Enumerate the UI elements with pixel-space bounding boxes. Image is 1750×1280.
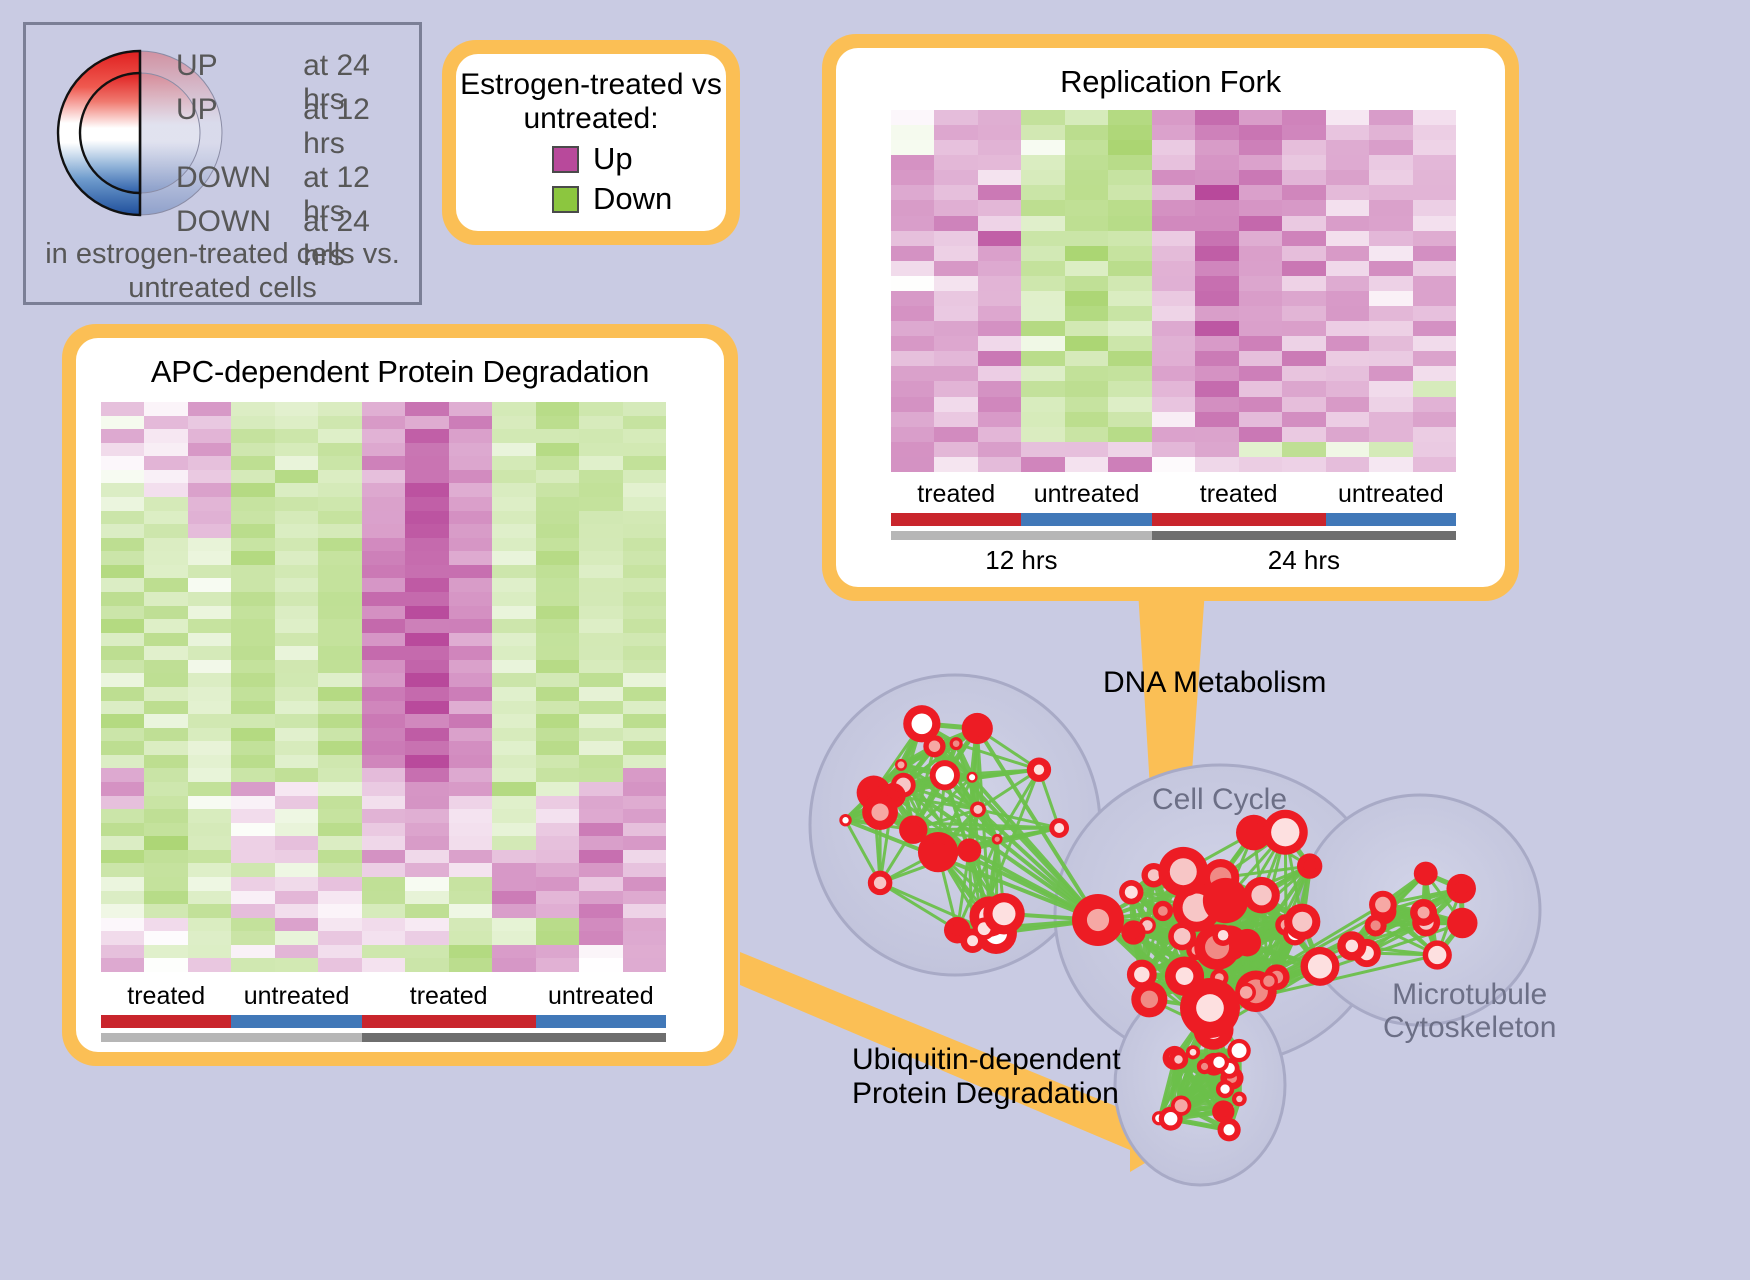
- heatmap-cell: [623, 416, 666, 430]
- heatmap-cell: [1282, 110, 1325, 125]
- heatmap-cell: [1152, 276, 1195, 291]
- network-node[interactable]: [1153, 901, 1173, 921]
- heatmap-cell: [1282, 336, 1325, 351]
- heatmap-cell: [579, 660, 622, 674]
- heatmap-cell: [275, 673, 318, 687]
- node-inner-core: [967, 935, 978, 946]
- heatmap-cell: [318, 443, 361, 457]
- heatmap-cell: [405, 823, 448, 837]
- heatmap-cell: [318, 416, 361, 430]
- node-inner-core: [1418, 906, 1430, 918]
- node-inner-core: [1196, 994, 1224, 1022]
- heatmap-cell: [405, 796, 448, 810]
- heatmap-cell: [1108, 397, 1151, 412]
- heatmap-cell: [405, 443, 448, 457]
- heatmap-cell: [978, 155, 1021, 170]
- heatmap-cell: [101, 945, 144, 959]
- heatmap-cell: [1108, 110, 1151, 125]
- heatmap-cell: [1326, 336, 1369, 351]
- network-node[interactable]: [1423, 940, 1452, 969]
- heatmap-cell: [449, 456, 492, 470]
- heatmap-cell: [318, 429, 361, 443]
- network-node[interactable]: [970, 801, 986, 817]
- network-node[interactable]: [1232, 1092, 1247, 1107]
- heatmap-cell: [623, 646, 666, 660]
- network-node[interactable]: [1186, 1045, 1200, 1059]
- network-node[interactable]: [1203, 878, 1248, 923]
- heatmap-cell: [101, 863, 144, 877]
- heatmap-cell: [1326, 427, 1369, 442]
- heatmap-cell: [405, 687, 448, 701]
- network-node[interactable]: [1297, 853, 1322, 878]
- heatmap-cell: [891, 125, 934, 140]
- heatmap-cell: [579, 687, 622, 701]
- network-node[interactable]: [1263, 810, 1308, 855]
- heatmap-cell: [1369, 412, 1412, 427]
- heatmap-cell: [1239, 412, 1282, 427]
- node-inner-core: [1170, 858, 1197, 885]
- heatmap-cell: [623, 470, 666, 484]
- heatmap-cell: [1369, 427, 1412, 442]
- network-node[interactable]: [1027, 758, 1051, 782]
- network-node[interactable]: [930, 760, 960, 790]
- heatmap-cell: [1369, 366, 1412, 381]
- heatmap-cell: [1152, 381, 1195, 396]
- heatmap-cell: [275, 809, 318, 823]
- heatmap-cell: [934, 200, 977, 215]
- network-node[interactable]: [895, 759, 907, 771]
- network-node[interactable]: [1446, 874, 1475, 903]
- node-inner-core: [929, 740, 940, 751]
- heatmap-cell: [492, 768, 535, 782]
- heatmap-cell: [188, 456, 231, 470]
- heatmap-cell: [536, 904, 579, 918]
- heatmap-cell: [144, 741, 187, 755]
- heatmap-cell: [275, 524, 318, 538]
- heatmap-cell: [405, 606, 448, 620]
- heatmap-cell: [318, 633, 361, 647]
- heatmap-cell: [231, 646, 274, 660]
- heatmap-cell: [1065, 336, 1108, 351]
- heatmap-cell: [362, 619, 405, 633]
- heatmap-cell: [1239, 397, 1282, 412]
- heatmap-cell: [275, 863, 318, 877]
- node-inner-core: [871, 804, 888, 821]
- heatmap-cell: [318, 958, 361, 972]
- node-inner-core: [1232, 1043, 1247, 1058]
- heatmap-cell: [1021, 261, 1064, 276]
- heatmap-cell: [1108, 276, 1151, 291]
- network-node[interactable]: [1369, 891, 1397, 919]
- heatmap-cell: [1152, 336, 1195, 351]
- heatmap-cell: [1021, 381, 1064, 396]
- heatmap-cell: [1326, 381, 1369, 396]
- node-inner-core: [1218, 930, 1229, 941]
- network-node[interactable]: [1365, 914, 1387, 936]
- node-color-legend: Estrogen-treated vs untreated: Up Down: [442, 40, 740, 245]
- heatmap-cell: [1282, 291, 1325, 306]
- heatmap-cell: [1152, 427, 1195, 442]
- heatmap-cell: [318, 687, 361, 701]
- heatmap-cell: [978, 442, 1021, 457]
- heatmap-cell: [188, 524, 231, 538]
- heatmap-cell: [623, 497, 666, 511]
- heatmap-cell: [1021, 457, 1064, 472]
- node-inner-core: [952, 924, 963, 935]
- heatmap-cell: [1195, 412, 1238, 427]
- pathway-network[interactable]: [780, 620, 1600, 1280]
- heatmap-cell: [579, 524, 622, 538]
- heatmap-cell: [536, 918, 579, 932]
- network-node[interactable]: [1049, 818, 1069, 838]
- heatmap-cell: [536, 633, 579, 647]
- heatmap-cell: [1152, 216, 1195, 231]
- heatmap-cell: [318, 578, 361, 592]
- heatmap-cell: [405, 782, 448, 796]
- heatmap-cell: [1065, 246, 1108, 261]
- heatmap-cell: [144, 728, 187, 742]
- heatmap-cell: [318, 836, 361, 850]
- heatmap-cell: [1195, 442, 1238, 457]
- network-node[interactable]: [1284, 904, 1320, 940]
- heatmap-cell: [188, 945, 231, 959]
- heatmap-cell: [1282, 125, 1325, 140]
- network-node[interactable]: [1212, 925, 1233, 946]
- heatmap-cell: [1108, 246, 1151, 261]
- heatmap-cell: [362, 511, 405, 525]
- heatmap-cell: [144, 402, 187, 416]
- heatmap-cell: [978, 381, 1021, 396]
- heatmap-cell: [623, 755, 666, 769]
- heatmap-cell: [449, 524, 492, 538]
- heatmap-cell: [144, 714, 187, 728]
- heatmap-cell: [405, 470, 448, 484]
- heatmap-cell: [144, 551, 187, 565]
- heatmap-cell: [579, 918, 622, 932]
- heatmap-cell: [101, 646, 144, 660]
- heatmap-cell: [275, 443, 318, 457]
- heatmap-cell: [231, 483, 274, 497]
- heatmap-cell: [492, 646, 535, 660]
- heatmap-cell: [1369, 110, 1412, 125]
- apc-panel: APC-dependent Protein Degradation treate…: [62, 324, 738, 1066]
- heatmap-cell: [405, 578, 448, 592]
- heatmap-cell: [362, 660, 405, 674]
- heatmap-cell: [1369, 381, 1412, 396]
- network-node[interactable]: [1300, 947, 1339, 986]
- network-node[interactable]: [1171, 1095, 1191, 1115]
- heatmap-cell: [318, 931, 361, 945]
- heatmap-cell: [188, 443, 231, 457]
- heatmap-cell: [405, 429, 448, 443]
- heatmap-cell: [231, 836, 274, 850]
- heatmap-cell: [1021, 185, 1064, 200]
- heatmap-cell: [623, 863, 666, 877]
- node-inner-core: [1190, 1049, 1197, 1056]
- network-node[interactable]: [1072, 894, 1124, 946]
- network-node[interactable]: [950, 737, 963, 750]
- heatmap-cell: [891, 261, 934, 276]
- heatmap-cell: [1152, 291, 1195, 306]
- heatmap-cell: [579, 809, 622, 823]
- heatmap-cell: [362, 429, 405, 443]
- heatmap-cell: [362, 646, 405, 660]
- heatmap-cell: [492, 470, 535, 484]
- heatmap-cell: [1413, 321, 1456, 336]
- heatmap-cell: [934, 321, 977, 336]
- heatmap-cell: [978, 185, 1021, 200]
- heatmap-cell: [405, 511, 448, 525]
- cluster-label-ubiquitin-protein-degradation: Ubiquitin-dependent Protein Degradation: [852, 1043, 1121, 1111]
- heatmap-cell: [405, 904, 448, 918]
- heatmap-cell: [318, 863, 361, 877]
- heatmap-cell: [275, 497, 318, 511]
- heatmap-cell: [362, 578, 405, 592]
- heatmap-cell: [362, 606, 405, 620]
- network-node[interactable]: [1212, 1100, 1234, 1122]
- heatmap-cell: [1239, 216, 1282, 231]
- heatmap-cell: [101, 592, 144, 606]
- node-inner-core: [969, 720, 985, 736]
- network-node[interactable]: [1410, 899, 1437, 926]
- heatmap-cell: [188, 429, 231, 443]
- heatmap-cell: [536, 945, 579, 959]
- heatmap-cell: [1065, 155, 1108, 170]
- heatmap-cell: [1326, 276, 1369, 291]
- heatmap-cell: [623, 592, 666, 606]
- network-node[interactable]: [957, 838, 981, 862]
- heatmap-cell: [1108, 170, 1151, 185]
- network-node[interactable]: [868, 871, 893, 896]
- heatmap-cell: [1108, 155, 1151, 170]
- heatmap-cell: [101, 456, 144, 470]
- heatmap-cell: [231, 470, 274, 484]
- heatmap-cell: [978, 366, 1021, 381]
- heatmap-cell: [492, 755, 535, 769]
- heatmap-cell: [1195, 170, 1238, 185]
- heatmap-cell: [536, 809, 579, 823]
- heatmap-cell: [318, 918, 361, 932]
- network-node[interactable]: [1447, 908, 1477, 938]
- heatmap-cell: [1195, 321, 1238, 336]
- heatmap-cell: [275, 836, 318, 850]
- network-node[interactable]: [1209, 1052, 1229, 1072]
- heatmap-cell: [449, 809, 492, 823]
- cluster-label-cell-cycle: Cell Cycle: [1152, 783, 1287, 816]
- heatmap-cell: [579, 511, 622, 525]
- column-group-bar: [101, 1015, 231, 1028]
- heatmap-cell: [891, 351, 934, 366]
- heatmap-cell: [623, 511, 666, 525]
- heatmap-cell: [362, 728, 405, 742]
- node-inner-core: [1148, 869, 1160, 881]
- network-node[interactable]: [983, 893, 1024, 934]
- heatmap-cell: [1065, 110, 1108, 125]
- heatmap-cell: [275, 728, 318, 742]
- heatmap-cell: [362, 931, 405, 945]
- network-node[interactable]: [1243, 877, 1280, 914]
- heatmap-cell: [1239, 140, 1282, 155]
- heatmap-cell: [362, 470, 405, 484]
- heatmap-cell: [579, 714, 622, 728]
- network-node[interactable]: [862, 794, 898, 830]
- heatmap-cell: [891, 457, 934, 472]
- heatmap-cell: [1021, 155, 1064, 170]
- panel-title: APC-dependent Protein Degradation: [76, 354, 724, 390]
- heatmap-cell: [362, 945, 405, 959]
- heatmap-cell: [231, 768, 274, 782]
- heatmap-cell: [1239, 261, 1282, 276]
- heatmap-cell: [1239, 366, 1282, 381]
- heatmap-cell: [449, 958, 492, 972]
- network-node[interactable]: [992, 834, 1003, 845]
- network-node[interactable]: [1169, 1050, 1188, 1069]
- heatmap-cell: [144, 483, 187, 497]
- heatmap-cell: [275, 796, 318, 810]
- heatmap-cell: [362, 850, 405, 864]
- heatmap-cell: [449, 850, 492, 864]
- heatmap-cell: [1413, 336, 1456, 351]
- heatmap-cell: [536, 402, 579, 416]
- heatmap-cell: [623, 931, 666, 945]
- heatmap-cell: [934, 216, 977, 231]
- heatmap-cell: [1195, 276, 1238, 291]
- heatmap-cell: [449, 945, 492, 959]
- heatmap-cell: [492, 701, 535, 715]
- network-node[interactable]: [1119, 880, 1143, 904]
- heatmap-cell: [231, 741, 274, 755]
- heatmap-cell: [188, 416, 231, 430]
- heatmap-cell: [934, 366, 977, 381]
- heatmap-cell: [275, 538, 318, 552]
- heatmap-cell: [318, 402, 361, 416]
- network-node[interactable]: [1414, 862, 1438, 886]
- heatmap-cell: [231, 565, 274, 579]
- heatmap-cell: [275, 606, 318, 620]
- heatmap-cell: [536, 483, 579, 497]
- heatmap-cell: [934, 231, 977, 246]
- network-node[interactable]: [1131, 981, 1167, 1017]
- figure-root: UP at 24 hrs UP at 12 hrs DOWN at 12 hrs…: [0, 0, 1750, 1279]
- heatmap-cell: [492, 416, 535, 430]
- heatmap-cell: [1152, 200, 1195, 215]
- heatmap-cell: [891, 276, 934, 291]
- network-node[interactable]: [1216, 1080, 1234, 1098]
- column-group-label: untreated: [1326, 480, 1456, 509]
- heatmap-cell: [934, 381, 977, 396]
- legend-time: at 12 hrs: [303, 93, 419, 161]
- heatmap-cell: [362, 524, 405, 538]
- heatmap-cell: [579, 741, 622, 755]
- heatmap-cell: [623, 551, 666, 565]
- heatmap-cell: [231, 443, 274, 457]
- heatmap-cell: [144, 768, 187, 782]
- heatmap-cell: [492, 836, 535, 850]
- heatmap-cell: [934, 442, 977, 457]
- heatmap-cell: [1108, 457, 1151, 472]
- heatmap-cell: [1282, 200, 1325, 215]
- network-node[interactable]: [962, 713, 993, 744]
- heatmap-cell: [934, 457, 977, 472]
- heatmap-cell: [1152, 321, 1195, 336]
- network-node[interactable]: [1260, 972, 1278, 990]
- heatmap-cell: [144, 606, 187, 620]
- network-node[interactable]: [1121, 920, 1145, 944]
- heatmap-cell: [231, 687, 274, 701]
- heatmap-cell: [318, 755, 361, 769]
- heatmap-cell: [978, 110, 1021, 125]
- network-node[interactable]: [1180, 978, 1240, 1038]
- heatmap-cell: [1326, 321, 1369, 336]
- heatmap-cell: [1021, 246, 1064, 261]
- heatmap-cell: [231, 551, 274, 565]
- network-node[interactable]: [923, 735, 945, 757]
- heatmap-cell: [1108, 291, 1151, 306]
- heatmap-cell: [1413, 216, 1456, 231]
- node-inner-core: [906, 823, 920, 837]
- network-node[interactable]: [1158, 847, 1208, 897]
- heatmap-cell: [318, 701, 361, 715]
- heatmap-cell: [579, 755, 622, 769]
- heatmap-cell: [275, 416, 318, 430]
- network-node[interactable]: [967, 772, 978, 783]
- heatmap-cell: [579, 497, 622, 511]
- heatmap-cell: [362, 402, 405, 416]
- heatmap-cell: [1413, 170, 1456, 185]
- heatmap-cell: [536, 646, 579, 660]
- heatmap-cell: [1282, 231, 1325, 246]
- heatmap-cell: [188, 850, 231, 864]
- heatmap-cell: [449, 918, 492, 932]
- heatmap-cell: [1239, 170, 1282, 185]
- heatmap-cell: [934, 397, 977, 412]
- heatmap-cell: [623, 565, 666, 579]
- heatmap-cell: [1326, 246, 1369, 261]
- heatmap-cell: [101, 741, 144, 755]
- heatmap-cell: [1195, 261, 1238, 276]
- heatmap-cell: [934, 276, 977, 291]
- heatmap-cell: [1413, 231, 1456, 246]
- network-node[interactable]: [1236, 983, 1256, 1003]
- heatmap-cell: [1152, 412, 1195, 427]
- heatmap-cell: [1065, 185, 1108, 200]
- heatmap-cell: [623, 958, 666, 972]
- heatmap-cell: [978, 336, 1021, 351]
- heatmap-cell: [449, 714, 492, 728]
- heatmap-cell: [449, 863, 492, 877]
- network-node[interactable]: [1337, 931, 1366, 960]
- network-node[interactable]: [899, 815, 927, 843]
- network-node[interactable]: [839, 814, 851, 826]
- heatmap-cell: [144, 836, 187, 850]
- heatmap-cell: [101, 443, 144, 457]
- heatmap-cell: [1369, 306, 1412, 321]
- heatmap-cell: [978, 351, 1021, 366]
- heatmap-cell: [144, 945, 187, 959]
- heatmap-cell: [579, 850, 622, 864]
- heatmap-cell: [101, 402, 144, 416]
- heatmap-cell: [318, 606, 361, 620]
- heatmap-cell: [1021, 170, 1064, 185]
- heatmap-cell: [318, 673, 361, 687]
- heatmap-cell: [1239, 200, 1282, 215]
- heatmap-cell: [231, 958, 274, 972]
- node-inner-core: [1087, 909, 1109, 931]
- heatmap-cell: [536, 456, 579, 470]
- heatmap-cell: [536, 755, 579, 769]
- network-node[interactable]: [1233, 929, 1261, 957]
- heatmap-cell: [318, 524, 361, 538]
